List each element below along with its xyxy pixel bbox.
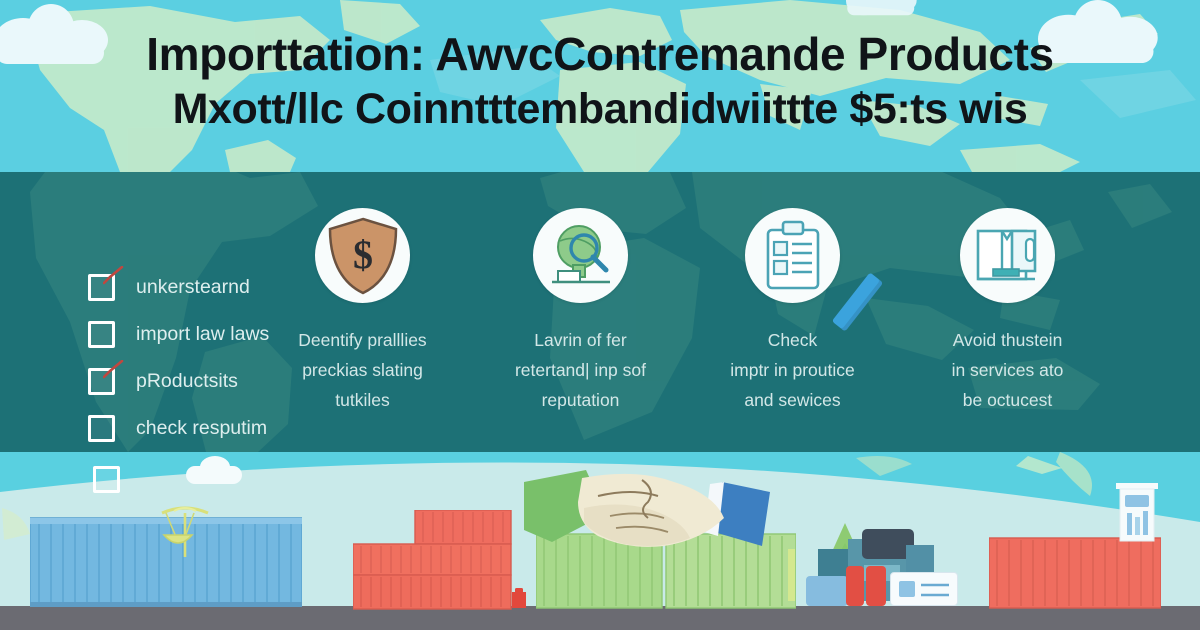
red-shipping-container-stack <box>353 510 513 606</box>
checkbox[interactable] <box>88 415 115 442</box>
caption-line: in services ato <box>900 355 1115 385</box>
footer-illustration-band <box>0 452 1200 630</box>
stray-checkbox[interactable] <box>93 466 120 493</box>
checkbox[interactable] <box>88 274 115 301</box>
green-pole <box>786 549 798 606</box>
title-line-1: Importtation: AwvcContremande Products <box>0 26 1200 82</box>
infographic-canvas: Importtation: AwvcContremande Products M… <box>0 0 1200 630</box>
checkbox[interactable] <box>88 368 115 395</box>
caption-line: retertand| inp sof <box>473 355 688 385</box>
column-avoid-trouble: Avoid thustein in services ato be octuce… <box>900 208 1115 415</box>
checkmark-icon <box>103 266 125 286</box>
checkbox[interactable] <box>88 321 115 348</box>
caption-line: Deentify pralllies <box>255 325 470 355</box>
checklist-item[interactable]: import law laws <box>88 311 269 358</box>
small-cloud-puff <box>200 456 230 478</box>
checklist-label: import law laws <box>136 323 269 346</box>
pencil-icon <box>832 272 884 331</box>
checklist-label: pRoductsits <box>136 370 238 393</box>
scales-of-justice-icon <box>152 499 218 568</box>
open-book-icon <box>960 208 1055 303</box>
checklist-item[interactable]: pRoductsits <box>88 358 269 405</box>
luggage-blue <box>806 576 848 606</box>
small-red-crate <box>510 588 528 606</box>
column-caption: Avoid thustein in services ato be octuce… <box>900 325 1115 415</box>
checklist-item[interactable]: check resputim <box>88 405 269 452</box>
luggage-white <box>890 572 958 606</box>
caption-line: tutkiles <box>255 385 470 415</box>
checklist-label: check resputim <box>136 417 267 440</box>
shield-dollar-icon: $ <box>315 208 410 303</box>
middle-content-band: unkerstearnd import law laws pRoductsits… <box>0 172 1200 452</box>
caption-line: reputation <box>473 385 688 415</box>
caption-line: Check <box>685 325 900 355</box>
caption-line: be octucest <box>900 385 1115 415</box>
column-caption: Deentify pralllies preckias slating tutk… <box>255 325 470 415</box>
column-check-practice: Check imptr in proutice and sewices <box>685 208 900 415</box>
caption-line: imptr in proutice <box>685 355 900 385</box>
icon-columns: $ Deentify pralllies preckias slating tu… <box>255 208 1190 438</box>
dollar-symbol: $ <box>353 232 373 277</box>
luggage-red-2 <box>866 566 886 606</box>
column-research-reputation: Lavrin of fer retertand| inp sof reputat… <box>473 208 688 415</box>
title-line-2: Mxott/llc Coinntttembandidwiittte $5:ts … <box>0 82 1200 136</box>
caption-line: Avoid thustein <box>900 325 1115 355</box>
checklist-item[interactable]: unkerstearnd <box>88 264 269 311</box>
column-caption: Lavrin of fer retertand| inp sof reputat… <box>473 325 688 415</box>
caption-line: and sewices <box>685 385 900 415</box>
column-identify-penalties: $ Deentify pralllies preckias slating tu… <box>255 208 470 415</box>
column-caption: Check imptr in proutice and sewices <box>685 325 900 415</box>
control-tower <box>1114 483 1160 550</box>
header-band: Importtation: AwvcContremande Products M… <box>0 0 1200 172</box>
globe-magnifier-icon <box>533 208 628 303</box>
handshake-illustration <box>524 466 770 563</box>
caption-line: preckias slating <box>255 355 470 385</box>
checklist: unkerstearnd import law laws pRoductsits… <box>88 264 269 452</box>
checklist-label: unkerstearnd <box>136 276 250 299</box>
clipboard-checklist-icon <box>745 208 840 303</box>
caption-line: Lavrin of fer <box>473 325 688 355</box>
luggage-red-1 <box>846 566 864 606</box>
checkmark-icon <box>103 360 125 380</box>
header-title: Importtation: AwvcContremande Products M… <box>0 26 1200 136</box>
